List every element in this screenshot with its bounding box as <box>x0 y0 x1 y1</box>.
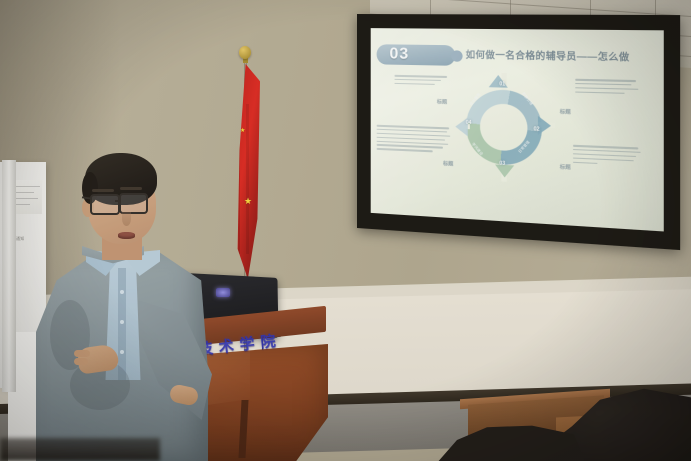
flag-star-large: ★ <box>240 128 245 135</box>
presenter-mouth <box>118 232 135 239</box>
screen-glare <box>371 28 664 231</box>
glasses-bridge <box>115 200 120 202</box>
glasses-right-lens-icon <box>119 193 148 214</box>
laptop-logo-icon <box>216 288 230 297</box>
whiteboard-note-label: 通知 <box>16 236 25 242</box>
flag-star-group: ★ <box>244 198 252 205</box>
flag-finial-icon <box>239 46 251 59</box>
foreground-shadow <box>0 438 160 461</box>
shirt-placket <box>118 268 126 380</box>
presenter-nose <box>122 212 131 226</box>
glasses-left-lens-icon <box>90 194 120 215</box>
lecture-photograph: 通知 03 如何做一名合格的辅导员——怎么做 <box>0 0 691 461</box>
projection-screen-surface: 03 如何做一名合格的辅导员——怎么做 <box>371 28 664 231</box>
whiteboard-edge-rail <box>2 160 16 392</box>
projection-screen: 03 如何做一名合格的辅导员——怎么做 <box>357 14 680 250</box>
presenter <box>30 150 200 461</box>
